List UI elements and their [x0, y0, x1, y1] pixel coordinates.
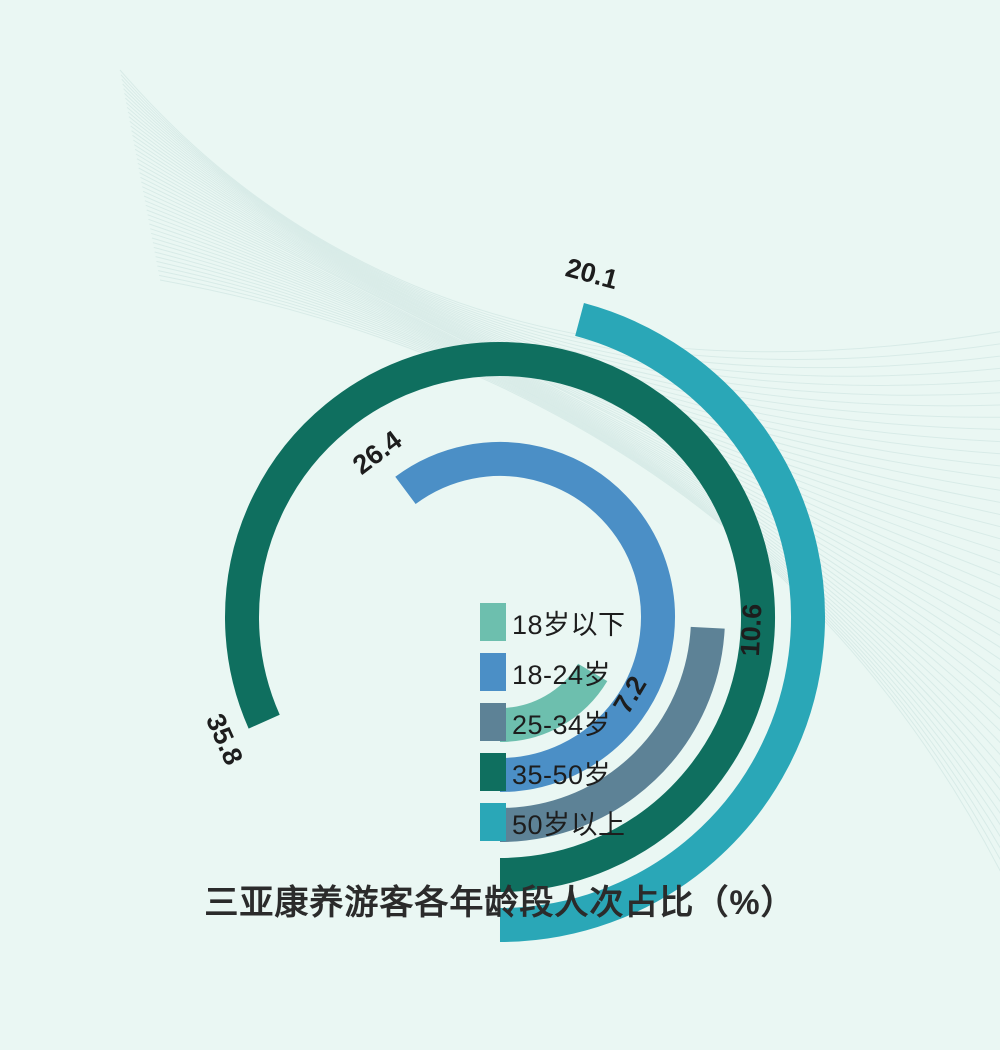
legend-label-18-24: 18-24岁: [512, 662, 611, 689]
legend-item-35-50[interactable]: 35-50岁: [512, 750, 812, 800]
legend-label-over50: 50岁以上: [512, 812, 626, 839]
legend-swatch-group: [480, 603, 506, 841]
legend-item-under18[interactable]: 18岁以下: [512, 600, 812, 650]
data-label-over50: 20.1: [563, 252, 622, 295]
legend-chip-35-50: [480, 753, 506, 791]
legend-label-25-34: 25-34岁: [512, 712, 611, 739]
data-label-35-50: 35.8: [200, 709, 249, 769]
legend-label-35-50: 35-50岁: [512, 762, 611, 789]
legend-chip-under18: [480, 603, 506, 641]
legend-item-18-24[interactable]: 18-24岁: [512, 650, 812, 700]
data-label-18-24: 26.4: [347, 425, 407, 481]
legend: 18岁以下 18-24岁 25-34岁 35-50岁 50岁以上: [512, 600, 812, 850]
chart-title: 三亚康养游客各年龄段人次占比（%）: [0, 875, 1000, 924]
legend-item-25-34[interactable]: 25-34岁: [512, 700, 812, 750]
legend-item-over50[interactable]: 50岁以上: [512, 800, 812, 850]
legend-chip-over50: [480, 803, 506, 841]
legend-label-under18: 18岁以下: [512, 612, 626, 639]
chart-canvas: 7.226.410.635.820.1 18岁以下 18-24岁 25-34岁 …: [0, 0, 1000, 1050]
legend-chip-25-34: [480, 703, 506, 741]
legend-chip-18-24: [480, 653, 506, 691]
